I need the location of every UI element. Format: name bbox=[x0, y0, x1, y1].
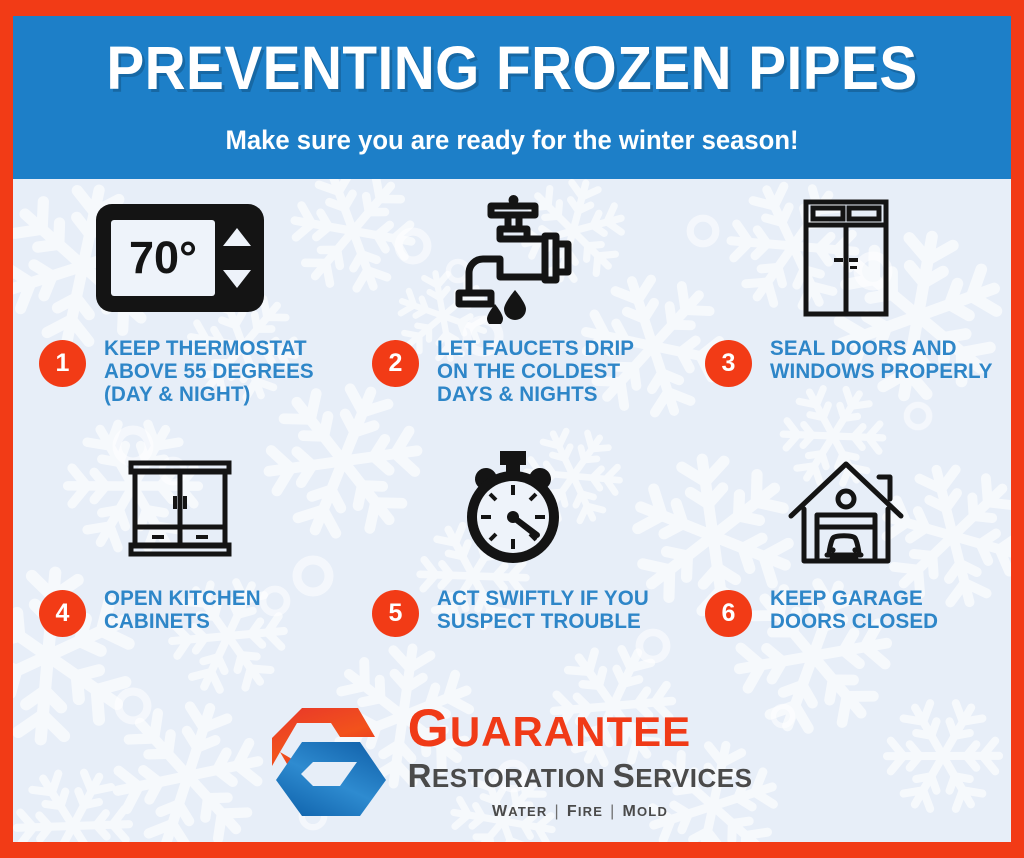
guarantee-hexagon-g-mark bbox=[272, 704, 390, 820]
tip-2-icon-wrap bbox=[346, 187, 679, 329]
logo-text-block: GUARANTEE RESTORATION SERVICES WATER|FIR… bbox=[408, 704, 753, 821]
door-handle-left bbox=[834, 258, 843, 262]
drawer-handle-right bbox=[196, 535, 208, 539]
page-subtitle: Make sure you are ready for the winter s… bbox=[38, 125, 986, 156]
tip-1-row: 1 KEEP THERMOSTAT ABOVE 55 DEGREES (DAY … bbox=[39, 337, 336, 406]
logo-sub-rest-a: ESTORATION bbox=[432, 763, 605, 793]
cabinet-handle-left bbox=[173, 496, 177, 509]
tip-item-5: 5 ACT SWIFTLY IF YOU SUSPECT TROUBLE bbox=[346, 429, 679, 679]
door-handle-right bbox=[849, 258, 858, 262]
tip-label-1: KEEP THERMOSTAT ABOVE 55 DEGREES (DAY & … bbox=[104, 337, 331, 406]
tip-item-6: 6 KEEP GARAGE DOORS CLOSED bbox=[679, 429, 1011, 679]
poster-header: PREVENTING FROZEN PIPES Make sure you ar… bbox=[13, 16, 1011, 179]
cabinet-handle-right bbox=[183, 496, 187, 509]
thermostat-icon: 70° bbox=[94, 202, 266, 314]
logo-word-cap: G bbox=[408, 699, 450, 758]
tag-separator-2: | bbox=[603, 803, 622, 820]
logo-tagline-services: RESTORATION SERVICES bbox=[408, 758, 753, 796]
tip-number-badge-6: 6 bbox=[705, 590, 752, 637]
tip-item-4: 4 OPEN KITCHEN CABINETS bbox=[13, 429, 346, 679]
tip-5-row: 5 ACT SWIFTLY IF YOU SUSPECT TROUBLE bbox=[372, 587, 669, 637]
drawer-handle-left bbox=[152, 535, 164, 539]
tag-fire-rest: IRE bbox=[578, 804, 603, 819]
tip-label-3: SEAL DOORS AND WINDOWS PROPERLY bbox=[770, 337, 997, 383]
tip-label-2: LET FAUCETS DRIP ON THE COLDEST DAYS & N… bbox=[437, 337, 664, 406]
dripping-faucet-icon bbox=[453, 192, 573, 324]
tag-fire-cap: F bbox=[567, 803, 578, 820]
kitchen-cabinet-icon bbox=[128, 456, 232, 560]
tag-separator-1: | bbox=[547, 803, 566, 820]
door-lock bbox=[850, 266, 857, 269]
stopwatch-pivot bbox=[507, 511, 519, 523]
tip-number-badge-1: 1 bbox=[39, 340, 86, 387]
tip-item-3: 3 SEAL DOORS AND WINDOWS PROPERLY bbox=[679, 179, 1011, 429]
tag-water-rest: ATER bbox=[508, 804, 547, 819]
tip-number-badge-5: 5 bbox=[372, 590, 419, 637]
tip-1-icon-wrap: 70° bbox=[13, 187, 346, 329]
tip-4-icon-wrap bbox=[13, 437, 346, 579]
tip-6-icon-wrap bbox=[679, 437, 1011, 579]
tip-number-badge-4: 4 bbox=[39, 590, 86, 637]
tip-2-row: 2 LET FAUCETS DRIP ON THE COLDEST DAYS &… bbox=[372, 337, 669, 406]
tip-item-2: 2 LET FAUCETS DRIP ON THE COLDEST DAYS &… bbox=[346, 179, 679, 429]
tip-label-6: KEEP GARAGE DOORS CLOSED bbox=[770, 587, 997, 633]
stopwatch-crown bbox=[500, 451, 526, 465]
tip-5-icon-wrap bbox=[346, 437, 679, 579]
logo-services-list: WATER|FIRE|MOLD bbox=[408, 803, 753, 821]
tip-4-row: 4 OPEN KITCHEN CABINETS bbox=[39, 587, 336, 637]
logo-company-name: GUARANTEE bbox=[408, 704, 753, 757]
logo-sub-cap-b: S bbox=[613, 757, 636, 794]
tip-3-row: 3 SEAL DOORS AND WINDOWS PROPERLY bbox=[705, 337, 1002, 387]
car-wheel-right bbox=[852, 547, 857, 552]
tips-grid: 70° 1 KEEP THERMOSTAT ABOVE 55 DEGREES (… bbox=[13, 179, 1011, 679]
page-title: PREVENTING FROZEN PIPES bbox=[48, 33, 976, 103]
logo-word-rest: UARANTEE bbox=[450, 708, 691, 755]
tip-label-4: OPEN KITCHEN CABINETS bbox=[104, 587, 331, 633]
water-drop-1 bbox=[504, 290, 526, 320]
logo-sub-cap-a: R bbox=[408, 757, 432, 794]
thermostat-temperature: 70° bbox=[128, 232, 196, 283]
tip-label-5: ACT SWIFTLY IF YOU SUSPECT TROUBLE bbox=[437, 587, 664, 633]
poster-inner: PREVENTING FROZEN PIPES Make sure you ar… bbox=[13, 16, 1011, 842]
tip-item-1: 70° 1 KEEP THERMOSTAT ABOVE 55 DEGREES (… bbox=[13, 179, 346, 429]
tag-mold-rest: OLD bbox=[637, 804, 668, 819]
logo-sub-rest-b: ERVICES bbox=[635, 763, 752, 793]
infographic-poster: PREVENTING FROZEN PIPES Make sure you ar… bbox=[0, 0, 1024, 858]
tip-number-badge-3: 3 bbox=[705, 340, 752, 387]
tip-number-badge-2: 2 bbox=[372, 340, 419, 387]
tag-mold-cap: M bbox=[622, 803, 637, 820]
tip-6-row: 6 KEEP GARAGE DOORS CLOSED bbox=[705, 587, 1002, 637]
company-logo: GUARANTEE RESTORATION SERVICES WATER|FIR… bbox=[13, 692, 1011, 832]
garage-house-icon bbox=[786, 452, 906, 564]
tag-water-cap: W bbox=[492, 803, 508, 820]
tip-3-icon-wrap bbox=[679, 187, 1011, 329]
car-wheel-left bbox=[830, 547, 835, 552]
double-doors-icon bbox=[803, 199, 889, 317]
stopwatch-icon bbox=[458, 449, 568, 567]
